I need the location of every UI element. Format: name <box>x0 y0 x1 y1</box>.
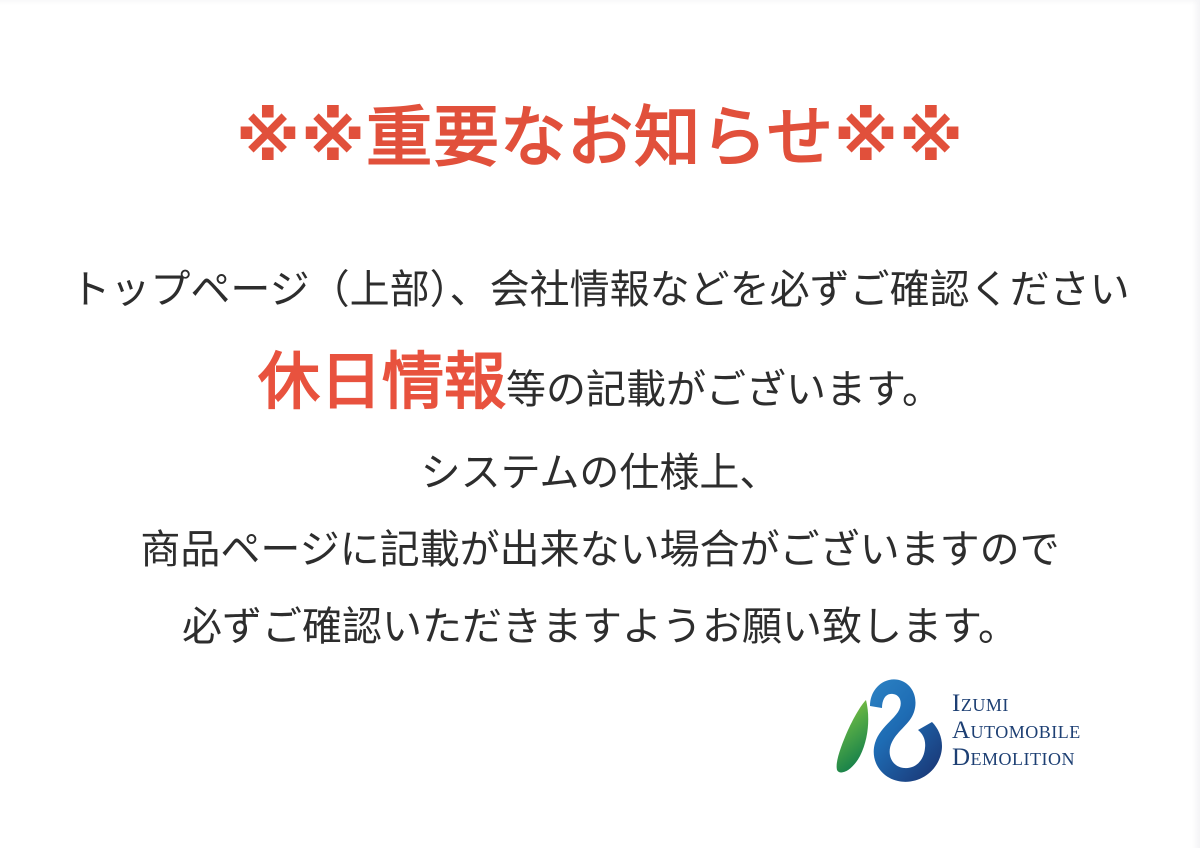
notice-headline: ※※重要なお知らせ※※ <box>0 104 1200 170</box>
company-logo-text: Izumi Automobile Demolition <box>952 690 1081 771</box>
izumi-wave-leaf-mark-icon <box>836 672 948 790</box>
logo-line-demolition: Demolition <box>952 744 1081 771</box>
notice-body-line-2: 休日情報等の記載がございます。 <box>0 352 1200 414</box>
logo-line-automobile: Automobile <box>952 717 1081 744</box>
logo-line-izumi: Izumi <box>952 690 1081 717</box>
notice-body-line-5: 必ずご確認いただきますようお願い致します。 <box>0 607 1200 647</box>
company-logo: Izumi Automobile Demolition <box>836 668 1126 793</box>
notice-body-line-1: トップページ（上部）、会社情報などを必ずご確認ください <box>0 270 1200 310</box>
notice-body-line-3: システムの仕様上、 <box>0 453 1200 493</box>
notice-content: ※※重要なお知らせ※※ トップページ（上部）、会社情報などを必ずご確認ください … <box>0 0 1200 848</box>
notice-body-line-2-rest: 等の記載がございます。 <box>506 368 942 412</box>
scanned-notice-sheet: ※※重要なお知らせ※※ トップページ（上部）、会社情報などを必ずご確認ください … <box>0 0 1200 848</box>
notice-emphasis-holiday-info: 休日情報 <box>258 348 506 417</box>
notice-body-line-4: 商品ページに記載が出来ない場合がございますので <box>0 530 1200 570</box>
